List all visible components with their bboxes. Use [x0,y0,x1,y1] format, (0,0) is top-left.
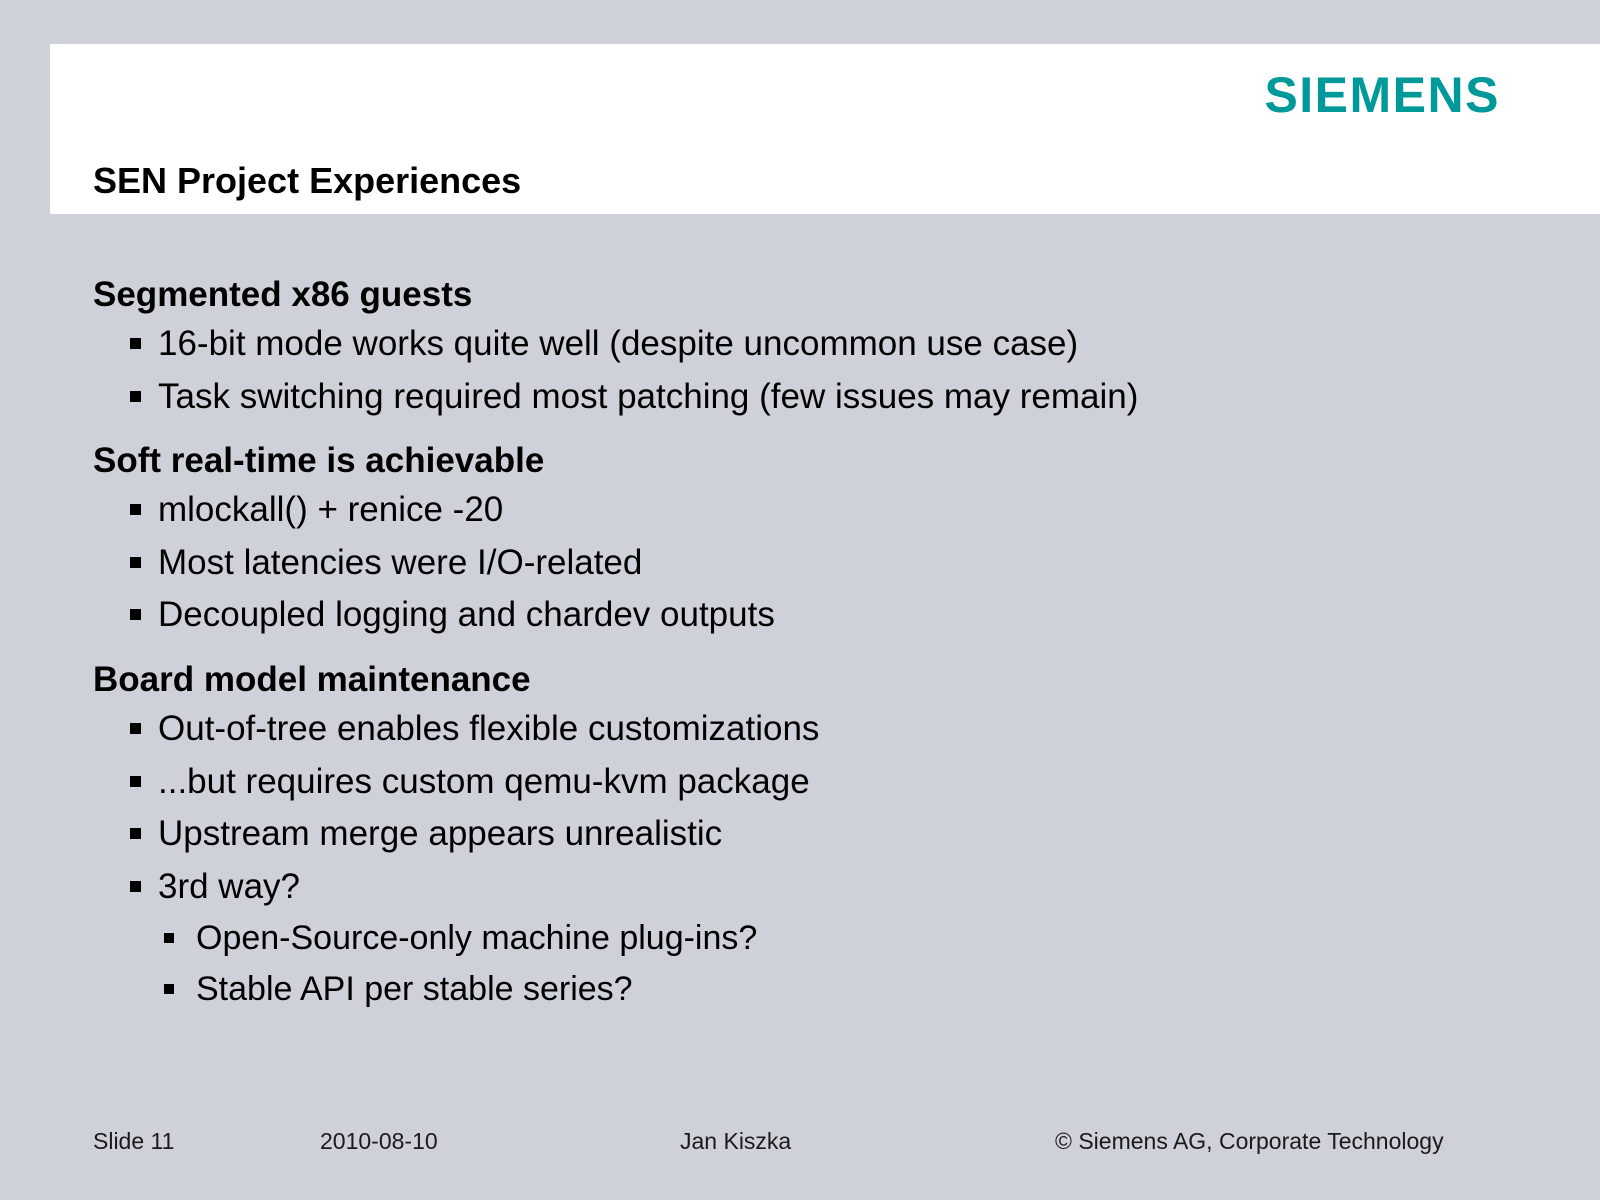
bullet-label: Out-of-tree enables flexible customizati… [158,709,819,748]
footer-author: Jan Kiszka [680,1128,791,1155]
header-band: SIEMENS SEN Project Experiences [50,44,1600,214]
bullet-item: 3rd way? [93,861,1543,914]
bullet-label: Open-Source-only machine plug-ins? [196,919,757,957]
bullet-label: Most latencies were I/O-related [158,543,642,582]
square-bullet-icon [130,391,141,402]
square-bullet-icon [130,504,141,515]
square-bullet-icon [130,723,141,734]
footer-copyright: © Siemens AG, Corporate Technology [1055,1128,1444,1155]
bullet-item: Decoupled logging and chardev outputs [93,589,1543,642]
bullet-label: 3rd way? [158,867,300,906]
bullet-label: Stable API per stable series? [196,970,633,1008]
bullet-label: Decoupled logging and chardev outputs [158,595,775,634]
bullet-item: Task switching required most patching (f… [93,371,1543,424]
slide-footer: Slide 11 2010-08-10 Jan Kiszka © Siemens… [0,1128,1600,1172]
content-section: Soft real-time is achievablemlockall() +… [93,438,1543,642]
page-title: SEN Project Experiences [93,160,521,202]
bullet-item: Most latencies were I/O-related [93,537,1543,590]
bullet-list: 16-bit mode works quite well (despite un… [93,318,1543,423]
square-bullet-icon [130,828,141,839]
bullet-list: mlockall() + renice -20Most latencies we… [93,484,1543,642]
square-bullet-icon [164,984,174,994]
square-bullet-icon [130,557,141,568]
bullet-label: 16-bit mode works quite well (despite un… [158,324,1078,363]
footer-date: 2010-08-10 [320,1128,438,1155]
bullet-item: Upstream merge appears unrealistic [93,808,1543,861]
section-heading: Soft real-time is achievable [93,438,1543,484]
square-bullet-icon [130,609,141,620]
content-section: Segmented x86 guests16-bit mode works qu… [93,272,1543,423]
bullet-label: Upstream merge appears unrealistic [158,814,722,853]
bullet-label: ...but requires custom qemu-kvm package [158,762,810,801]
bullet-item: 16-bit mode works quite well (despite un… [93,318,1543,371]
footer-slide-number: Slide 11 [93,1128,174,1155]
square-bullet-icon [130,776,141,787]
bullet-item: Stable API per stable series? [93,964,1543,1015]
bullet-list: Out-of-tree enables flexible customizati… [93,703,1543,1015]
square-bullet-icon [130,338,141,349]
bullet-label: Task switching required most patching (f… [158,377,1138,416]
slide-body: Segmented x86 guests16-bit mode works qu… [93,272,1543,1023]
bullet-item: Open-Source-only machine plug-ins? [93,913,1543,964]
content-section: Board model maintenanceOut-of-tree enabl… [93,657,1543,1015]
square-bullet-icon [164,933,174,943]
section-heading: Board model maintenance [93,657,1543,703]
bullet-label: mlockall() + renice -20 [158,490,503,529]
bullet-item: Out-of-tree enables flexible customizati… [93,703,1543,756]
square-bullet-icon [130,881,141,892]
siemens-logo: SIEMENS [1264,70,1500,120]
bullet-item: mlockall() + renice -20 [93,484,1543,537]
bullet-item: ...but requires custom qemu-kvm package [93,756,1543,809]
slide-canvas: SIEMENS SEN Project Experiences Segmente… [0,0,1600,1200]
section-heading: Segmented x86 guests [93,272,1543,318]
